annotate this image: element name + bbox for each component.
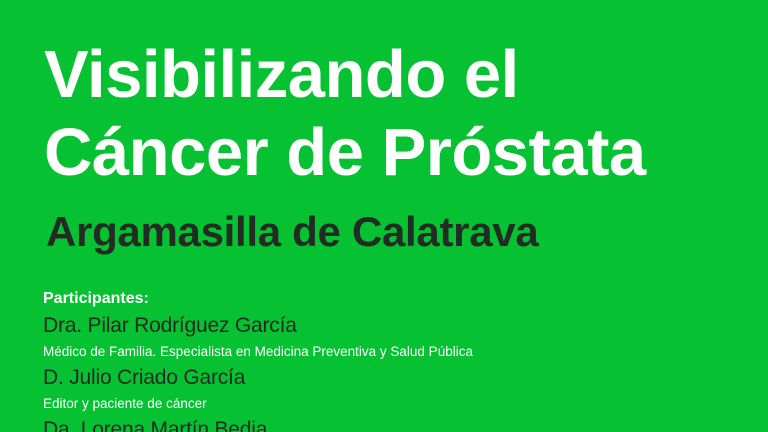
participant-role: Médico de Familia. Especialista en Medic… (43, 341, 743, 363)
participants-heading: Participantes: (43, 287, 743, 311)
participant-name: Dra. Pilar Rodríguez García (43, 311, 743, 341)
event-location: Argamasilla de Calatrava (46, 207, 538, 257)
participant-role: Editor y paciente de cáncer (43, 393, 743, 415)
poster-headline: Visibilizando el Cáncer de Próstata (44, 36, 756, 192)
participant-entry: Dra. Pilar Rodríguez García Médico de Fa… (43, 311, 743, 363)
headline-line-2: Cáncer de Próstata (44, 114, 756, 192)
participant-entry: D. Julio Criado García Editor y paciente… (43, 363, 743, 415)
participants-section: Participantes: Dra. Pilar Rodríguez Garc… (43, 287, 743, 432)
participant-name: Da. Lorena Martín Bedia (43, 415, 743, 432)
participant-entry: Da. Lorena Martín Bedia (43, 415, 743, 432)
participant-name: D. Julio Criado García (43, 363, 743, 393)
headline-line-1: Visibilizando el (44, 36, 756, 114)
poster-canvas: Visibilizando el Cáncer de Próstata Arga… (0, 0, 768, 432)
